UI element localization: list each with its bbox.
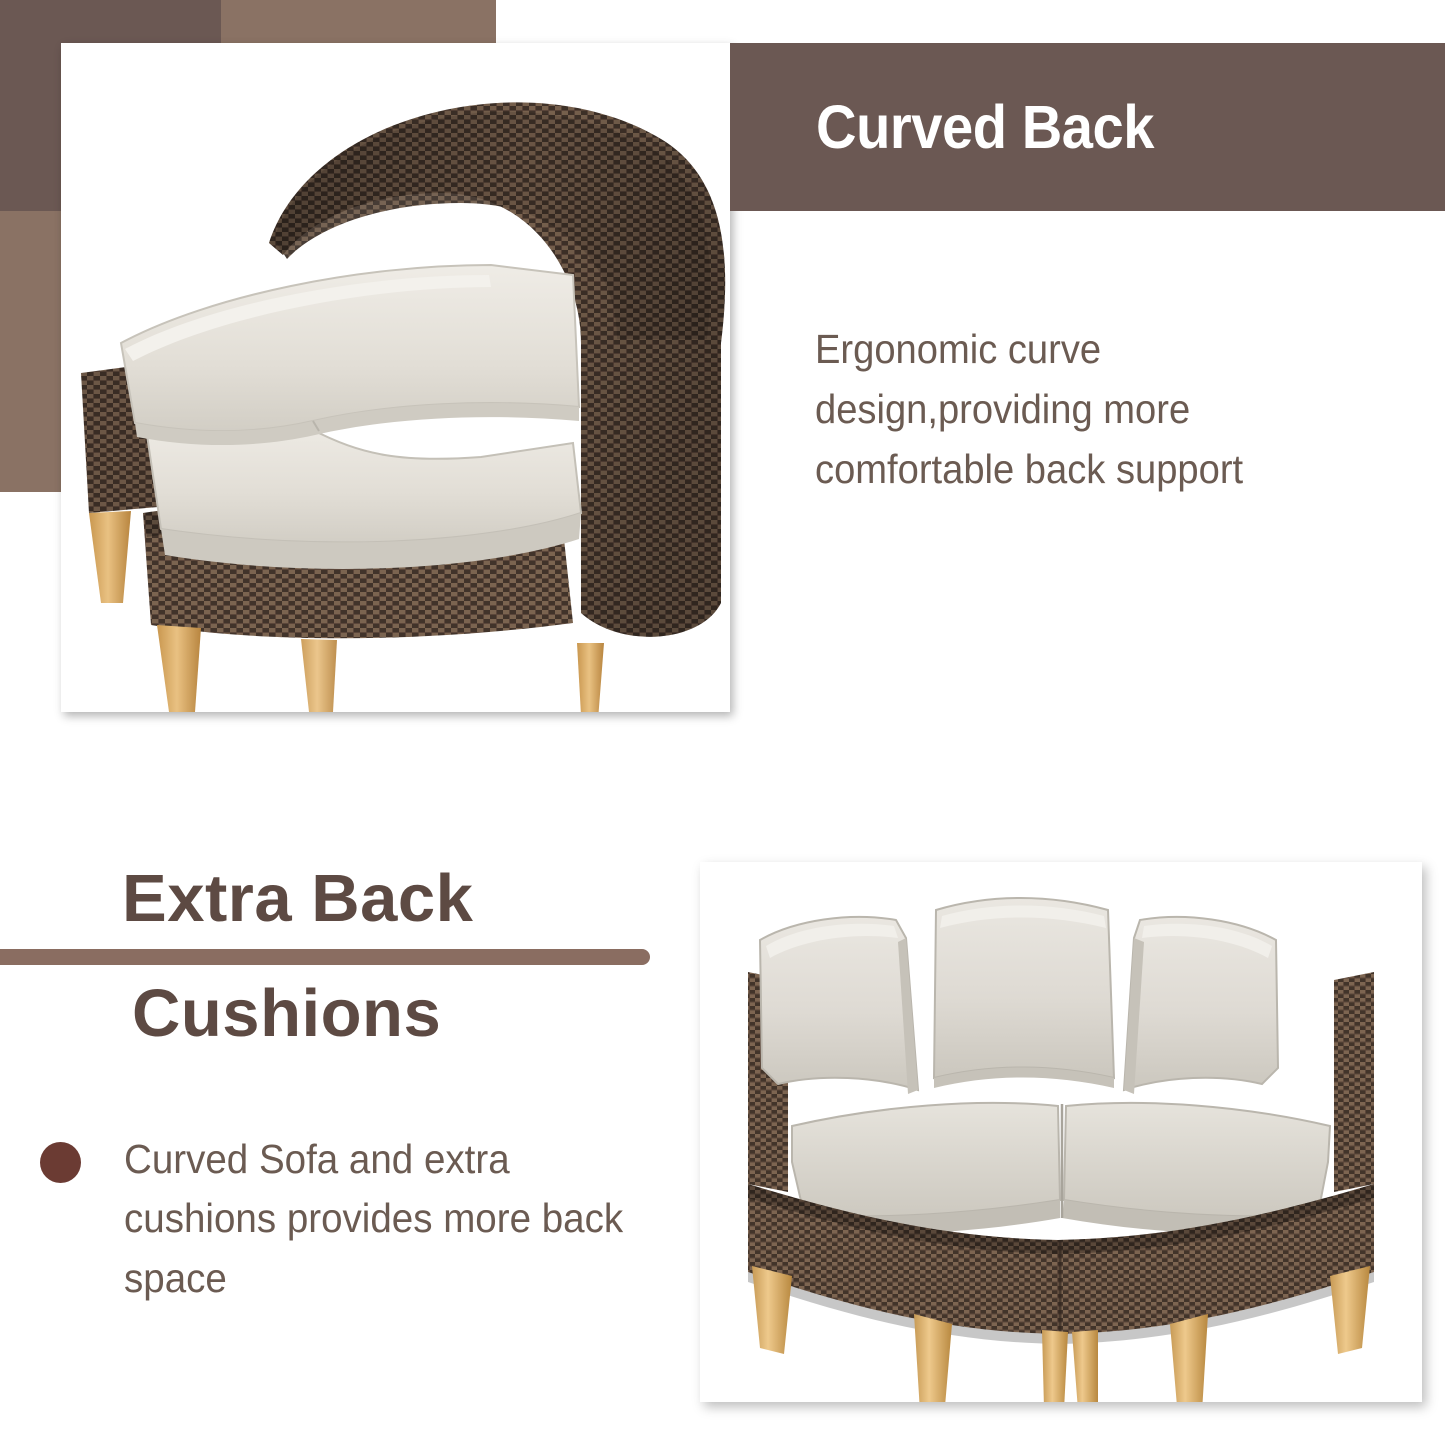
curved-back-description: Ergonomic curve design,providing more co…	[815, 320, 1373, 500]
decor-bar-top-light	[221, 0, 496, 44]
curved-chair-illustration	[61, 43, 730, 712]
decor-bar-left-light	[0, 211, 61, 492]
product-photo-curved-sofa	[700, 862, 1422, 1402]
extra-back-heading-line-1: Extra Back	[122, 860, 473, 937]
extra-back-heading-line-2: Cushions	[132, 975, 441, 1052]
curved-back-banner: Curved Back	[730, 43, 1445, 211]
feature-bullet-item: Curved Sofa and extra cushions provides …	[40, 1130, 670, 1308]
curved-sofa-illustration	[700, 862, 1422, 1402]
decor-bar-left-dark	[0, 0, 61, 211]
banner-title: Curved Back	[816, 92, 1154, 162]
heading-divider-rule	[0, 949, 650, 965]
bullet-text: Curved Sofa and extra cushions provides …	[124, 1130, 637, 1308]
bullet-dot-icon	[40, 1142, 81, 1183]
product-photo-curved-back	[61, 43, 730, 712]
